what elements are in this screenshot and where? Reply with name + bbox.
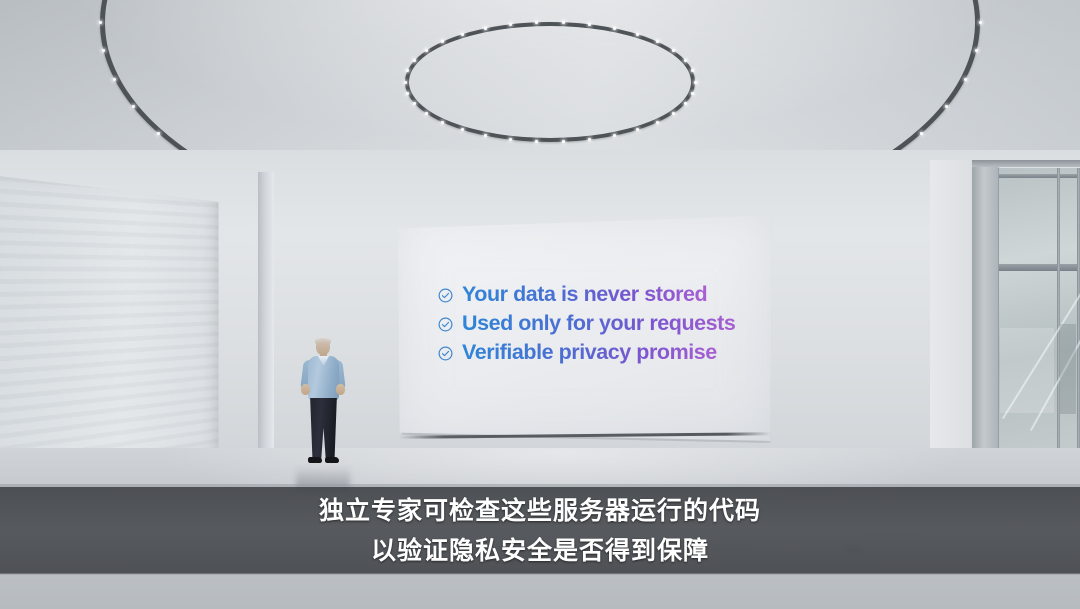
presenter-trousers [309, 398, 338, 460]
presenter-hand-right [336, 384, 345, 395]
slide-bullet-label: Used only for your requests [462, 311, 735, 336]
subtitle-overlay: 独立专家可检查这些服务器运行的代码 以验证隐私安全是否得到保障 [0, 487, 1080, 574]
glass-door-mullion-center [1057, 168, 1060, 468]
presenter [295, 338, 351, 470]
presenter-hand-left [301, 384, 310, 395]
slide-bullet-label: Verifiable privacy promise [462, 340, 717, 365]
presenter-shoe-right [325, 457, 339, 463]
presentation-screen: Your data is never stored Used only for … [396, 212, 774, 448]
glass-door-midrail [996, 264, 1080, 271]
glass-lower-panel [1000, 328, 1054, 413]
glass-lower-panel-2 [1060, 324, 1076, 414]
slide-bullet-item: Your data is never stored [438, 280, 738, 309]
presenter-shoe-left [308, 457, 322, 463]
check-circle-icon [438, 346, 453, 361]
glass-door-assembly [996, 168, 1080, 468]
check-circle-icon [438, 288, 453, 303]
slide-bullet-list: Your data is never stored Used only for … [438, 280, 738, 367]
curved-left-wall [0, 175, 219, 475]
slide-bullet-label: Your data is never stored [462, 282, 707, 307]
glass-door-header [996, 174, 1080, 178]
ceiling-light-ring-inner [405, 22, 695, 142]
wall-pillar [258, 172, 274, 462]
subtitle-line-1: 独立专家可检查这些服务器运行的代码 [319, 491, 761, 531]
check-circle-icon [438, 317, 453, 332]
subtitle-line-2: 以验证隐私安全是否得到保障 [371, 531, 709, 571]
keynote-screenshot: Your data is never stored Used only for … [0, 0, 1080, 609]
door-head-beam [972, 160, 1080, 167]
slide-bullet-item: Verifiable privacy promise [438, 338, 738, 367]
subtitle-band-bottom-edge [0, 573, 1080, 575]
door-jamb [972, 160, 998, 465]
slide-bullet-item: Used only for your requests [438, 309, 738, 338]
